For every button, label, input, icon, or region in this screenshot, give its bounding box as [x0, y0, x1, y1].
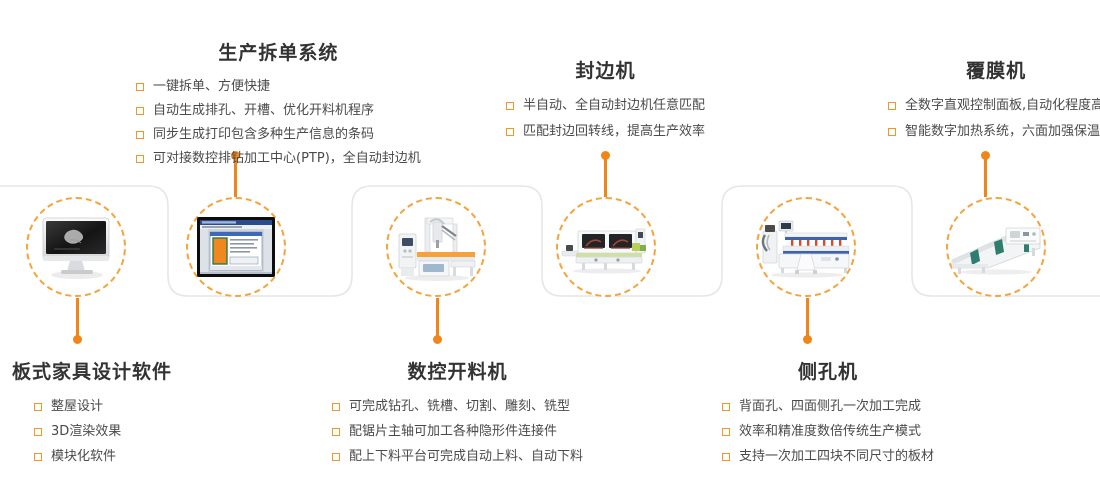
- checkbox-marker-icon: [136, 131, 144, 139]
- stem-design-software: [76, 298, 79, 340]
- block-split-order-system: 生产拆单系统 一键拆单、方便快捷 自动生成排孔、开槽、优化开料机程序 同步生成打…: [136, 38, 421, 171]
- checkbox-marker-icon: [722, 403, 730, 411]
- node-edge-banding-machine[interactable]: [556, 197, 656, 297]
- checkbox-marker-icon: [332, 453, 340, 461]
- feature-list-cnc-cutting-machine: 可完成钻孔、铣槽、切割、雕刻、铣型 配锯片主轴可加工各种隐形件连接件 配上下料平…: [332, 394, 583, 469]
- checkbox-marker-icon: [332, 428, 340, 436]
- checkbox-marker-icon: [506, 102, 514, 110]
- list-item: 模块化软件: [34, 444, 172, 469]
- list-item: 半自动、全自动封边机任意匹配: [506, 93, 705, 119]
- block-title-side-hole-machine: 侧孔机: [722, 357, 934, 384]
- block-cnc-cutting-machine: 数控开料机 可完成钻孔、铣槽、切割、雕刻、铣型 配锯片主轴可加工各种隐形件连接件…: [332, 357, 583, 469]
- checkbox-marker-icon: [506, 128, 514, 136]
- list-item: 匹配封边回转线，提高生产效率: [506, 119, 705, 145]
- feature-list-design-software: 整屋设计 3D渲染效果 模块化软件: [12, 394, 172, 469]
- feature-list-split-order-system: 一键拆单、方便快捷 自动生成排孔、开槽、优化开料机程序 同步生成打印包含多种生产…: [136, 75, 421, 171]
- checkbox-marker-icon: [888, 128, 896, 136]
- block-title-laminating-machine: 覆膜机: [888, 56, 1100, 83]
- checkbox-marker-icon: [34, 403, 42, 411]
- list-item: 可完成钻孔、铣槽、切割、雕刻、铣型: [332, 394, 583, 419]
- list-item: 全数字直观控制面板,自动化程度高: [888, 93, 1100, 119]
- infographic-stage: 生产拆单系统 一键拆单、方便快捷 自动生成排孔、开槽、优化开料机程序 同步生成打…: [0, 0, 1100, 495]
- list-item: 效率和精准度数倍传统生产模式: [722, 419, 934, 444]
- list-item: 自动生成排孔、开槽、优化开料机程序: [136, 99, 421, 123]
- stem-cnc-cutting-machine: [436, 298, 439, 340]
- checkbox-marker-icon: [136, 83, 144, 91]
- laminating-machine-icon: [953, 204, 1039, 290]
- imac-computer-icon: [33, 204, 119, 290]
- side-drilling-machine-icon: [763, 204, 849, 290]
- node-side-hole-drilling-machine[interactable]: [756, 197, 856, 297]
- checkbox-marker-icon: [722, 428, 730, 436]
- list-item: 背面孔、四面侧孔一次加工完成: [722, 394, 934, 419]
- block-edge-banding-machine: 封边机 半自动、全自动封边机任意匹配 匹配封边回转线，提高生产效率: [506, 56, 705, 145]
- stem-dot: [433, 335, 442, 344]
- stem-dot: [981, 151, 990, 160]
- list-item: 配上下料平台可完成自动上料、自动下料: [332, 444, 583, 469]
- list-item: 支持一次加工四块不同尺寸的板材: [722, 444, 934, 469]
- list-item: 同步生成打印包含多种生产信息的条码: [136, 123, 421, 147]
- checkbox-marker-icon: [34, 453, 42, 461]
- cnc-router-machine-icon: [393, 204, 479, 290]
- list-item: 一键拆单、方便快捷: [136, 75, 421, 99]
- list-item: 3D渲染效果: [34, 419, 172, 444]
- checkbox-marker-icon: [888, 102, 896, 110]
- feature-list-edge-banding-machine: 半自动、全自动封边机任意匹配 匹配封边回转线，提高生产效率: [506, 93, 705, 145]
- block-laminating-machine: 覆膜机 全数字直观控制面板,自动化程度高 智能数字加热系统，六面加强保温: [888, 56, 1100, 145]
- block-title-split-order-system: 生产拆单系统: [136, 38, 421, 65]
- checkbox-marker-icon: [332, 403, 340, 411]
- feature-list-laminating-machine: 全数字直观控制面板,自动化程度高 智能数字加热系统，六面加强保温: [888, 93, 1100, 145]
- node-split-order-system[interactable]: [186, 197, 286, 297]
- list-item: 配锯片主轴可加工各种隐形件连接件: [332, 419, 583, 444]
- feature-list-side-hole-machine: 背面孔、四面侧孔一次加工完成 效率和精准度数倍传统生产模式 支持一次加工四块不同…: [722, 394, 934, 469]
- list-item: 整屋设计: [34, 394, 172, 419]
- list-item: 可对接数控排钻加工中心(PTP)，全自动封边机: [136, 147, 421, 171]
- stem-laminating-machine: [984, 155, 987, 197]
- block-design-software: 板式家具设计软件 整屋设计 3D渲染效果 模块化软件: [12, 357, 172, 469]
- node-laminating-machine[interactable]: [946, 197, 1046, 297]
- stem-dot: [73, 335, 82, 344]
- list-item: 智能数字加热系统，六面加强保温: [888, 119, 1100, 145]
- node-design-software[interactable]: [26, 197, 126, 297]
- block-side-hole-machine: 侧孔机 背面孔、四面侧孔一次加工完成 效率和精准度数倍传统生产模式 支持一次加工…: [722, 357, 934, 469]
- checkbox-marker-icon: [722, 453, 730, 461]
- cad-software-screen-icon: [193, 204, 279, 290]
- block-title-edge-banding-machine: 封边机: [506, 56, 705, 83]
- stem-side-hole-machine: [806, 298, 809, 340]
- stem-dot: [803, 335, 812, 344]
- checkbox-marker-icon: [136, 155, 144, 163]
- stem-dot: [601, 151, 610, 160]
- edge-bander-machine-icon: [563, 204, 649, 290]
- node-cnc-cutting-machine[interactable]: [386, 197, 486, 297]
- block-title-cnc-cutting-machine: 数控开料机: [332, 357, 583, 384]
- stem-edge-banding-machine: [604, 155, 607, 197]
- checkbox-marker-icon: [136, 107, 144, 115]
- checkbox-marker-icon: [34, 428, 42, 436]
- block-title-design-software: 板式家具设计软件: [12, 357, 172, 384]
